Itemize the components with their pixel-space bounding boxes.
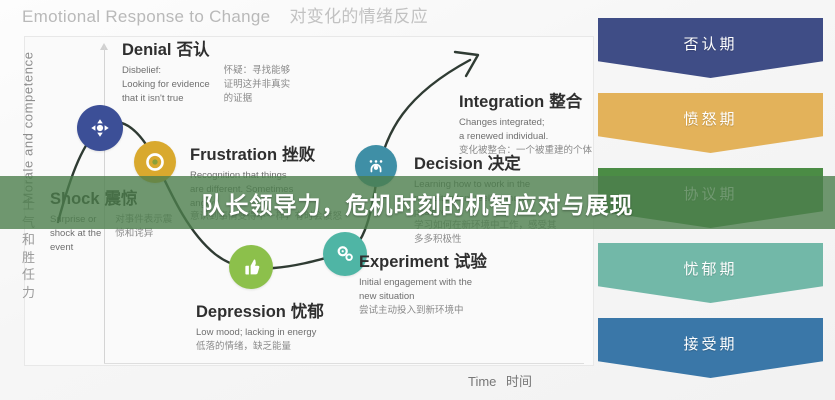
- stage-depression-desc-en: Low mood; lacking in energy: [196, 326, 324, 340]
- stage-depression-head-zh: 忧郁: [291, 303, 324, 321]
- phase-banner-label: 愤怒期: [683, 108, 737, 129]
- x-axis-line: [104, 363, 584, 364]
- stage-experiment-head-en: Experiment: [359, 253, 449, 271]
- stage-denial-desc-zh: 怀疑：寻找能够证明这并非真实的证据: [224, 64, 291, 105]
- stage-block-integration: Integration整合 Changes integrated;a renew…: [459, 88, 592, 157]
- stage-depression-head-en: Depression: [196, 303, 286, 321]
- page-title-zh: 对变化的情绪反应: [289, 7, 427, 26]
- page-title-en: Emotional Response to Change: [22, 7, 270, 26]
- stage-experiment-heading: Experiment试验: [359, 248, 487, 272]
- slide-canvas: Emotional Response to Change 对变化的情绪反应 Mo…: [0, 0, 835, 400]
- stage-denial-desc: Disbelief:Looking for evidencethat it is…: [122, 64, 290, 105]
- ring-icon: [145, 152, 165, 172]
- stage-frustration-heading: Frustration挫败: [190, 141, 342, 165]
- stage-depression-desc: Low mood; lacking in energy 低落的情绪，缺乏能量: [196, 326, 324, 354]
- stage-denial-heading: Denial否认: [122, 36, 290, 60]
- x-axis-label-en: Time: [468, 374, 496, 389]
- phase-banner-label: 否认期: [683, 33, 737, 54]
- stage-experiment-desc-zh: 尝试主动投入到新环境中: [359, 304, 487, 318]
- stage-decision-head-zh: 决定: [488, 155, 521, 173]
- thumbs-up-icon: [241, 257, 262, 278]
- phase-banner-label: 忧郁期: [683, 258, 737, 279]
- stage-denial-head-zh: 否认: [177, 41, 210, 59]
- stage-block-depression: Depression忧郁 Low mood; lacking in energy…: [196, 298, 324, 354]
- stage-frustration-head-en: Frustration: [190, 146, 277, 164]
- stage-integration-desc-zh: 变化被整合：一个被重建的个体: [459, 144, 592, 158]
- stage-decision-head-en: Decision: [414, 155, 483, 173]
- x-axis-label: Time 时间: [468, 371, 532, 390]
- phase-banner-label: 接受期: [683, 333, 737, 354]
- page-title: Emotional Response to Change 对变化的情绪反应: [22, 2, 428, 27]
- gears-icon: [334, 243, 356, 265]
- stage-integration-desc-en: Changes integrated;a renewed individual.: [459, 116, 592, 144]
- stage-integration-desc: Changes integrated;a renewed individual.…: [459, 116, 592, 157]
- x-axis-label-zh: 时间: [506, 374, 532, 389]
- stage-block-denial: Denial否认 Disbelief:Looking for evidencet…: [122, 36, 290, 105]
- node-denial[interactable]: [77, 105, 123, 151]
- caption-overlay-text: 队长领导力，危机时刻的机智应对与展现: [0, 176, 835, 229]
- stage-frustration-head-zh: 挫败: [282, 146, 315, 164]
- move-crosshair-icon: [89, 117, 111, 139]
- node-depression[interactable]: [229, 245, 273, 289]
- stage-integration-head-en: Integration: [459, 93, 544, 111]
- stage-experiment-desc: Initial engagement with thenew situation…: [359, 276, 487, 317]
- stage-depression-heading: Depression忧郁: [196, 298, 324, 322]
- stage-denial-desc-en: Disbelief:Looking for evidencethat it is…: [122, 64, 210, 105]
- stage-integration-heading: Integration整合: [459, 88, 592, 112]
- stage-integration-head-zh: 整合: [549, 93, 582, 111]
- people-group-icon: [365, 155, 387, 177]
- stage-depression-desc-zh: 低落的情绪，缺乏能量: [196, 340, 324, 354]
- stage-experiment-desc-en: Initial engagement with thenew situation: [359, 276, 487, 304]
- stage-block-experiment: Experiment试验 Initial engagement with the…: [359, 248, 487, 317]
- stage-experiment-head-zh: 试验: [454, 253, 487, 271]
- stage-denial-head-en: Denial: [122, 41, 172, 59]
